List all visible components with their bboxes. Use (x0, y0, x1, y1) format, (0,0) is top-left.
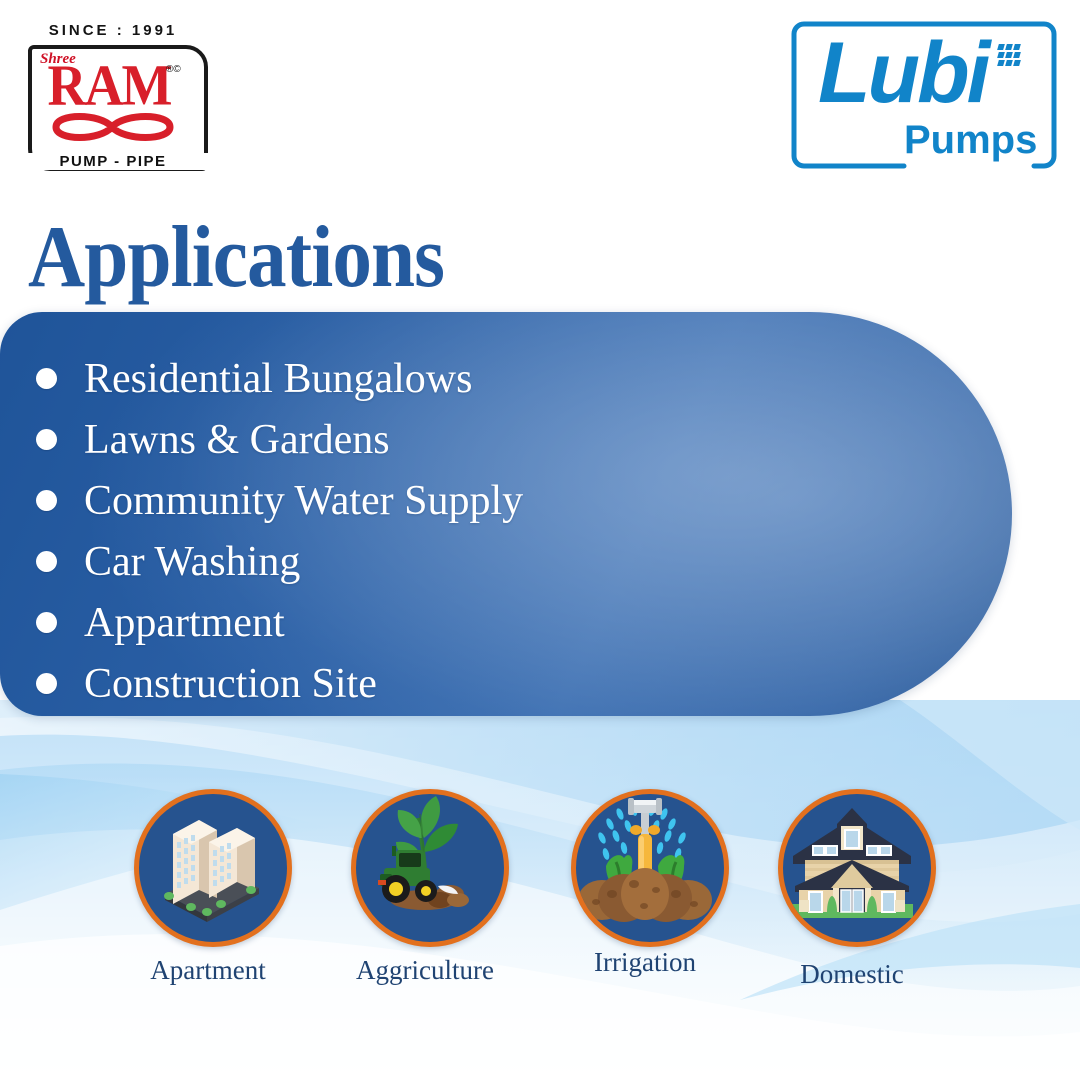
list-item: Car Washing (0, 531, 960, 592)
list-item-label: Community Water Supply (84, 480, 523, 522)
applications-list: Residential Bungalows Lawns & Gardens Co… (0, 348, 960, 714)
bullet-dot-icon (36, 429, 57, 450)
sprinkler-soil-icon (576, 794, 714, 932)
list-item: Construction Site (0, 653, 960, 714)
ram-wordmark: RAM (34, 56, 184, 114)
page-title: Applications (28, 214, 444, 302)
ram-trademark-mark: ®© (166, 64, 181, 75)
icon-label-domestic: Domestic (756, 959, 948, 990)
applications-poster: SINCE : 1991 Shree RAM ®© PUMP - PIPE Lu… (0, 0, 1080, 1080)
list-item-label: Car Washing (84, 541, 300, 583)
lubi-pumps-logo: Lubi Pumps (788, 20, 1060, 170)
lubi-wordmark: Lubi (818, 30, 988, 116)
irrigation-circle (571, 789, 729, 947)
ram-since-text: SINCE : 1991 (18, 22, 208, 39)
list-item: Lawns & Gardens (0, 409, 960, 470)
apartment-circle (134, 789, 292, 947)
bullet-dot-icon (36, 368, 57, 389)
domestic-circle (778, 789, 936, 947)
house-icon (783, 794, 921, 932)
agriculture-circle (351, 789, 509, 947)
shree-ram-logo: SINCE : 1991 Shree RAM ®© PUMP - PIPE (18, 22, 208, 167)
list-item-label: Lawns & Gardens (84, 419, 390, 461)
tractor-plant-icon (356, 794, 494, 932)
icon-label-apartment: Apartment (112, 955, 304, 986)
lubi-grid-dot-icon (998, 44, 1024, 70)
bullet-dot-icon (36, 551, 57, 572)
icon-label-agriculture: Aggriculture (329, 955, 521, 986)
list-item: Community Water Supply (0, 470, 960, 531)
ram-tagline-wrap: PUMP - PIPE (18, 153, 208, 170)
list-item-label: Appartment (84, 602, 285, 644)
list-item-label: Residential Bungalows (84, 358, 472, 400)
list-item-label: Construction Site (84, 663, 377, 705)
apartment-buildings-icon (139, 794, 277, 932)
bullet-dot-icon (36, 612, 57, 633)
bullet-dot-icon (36, 490, 57, 511)
lubi-sub-wordmark: Pumps (904, 120, 1037, 160)
bullet-dot-icon (36, 673, 57, 694)
ram-tagline: PUMP - PIPE (53, 153, 172, 170)
list-item: Appartment (0, 592, 960, 653)
list-item: Residential Bungalows (0, 348, 960, 409)
icon-label-irrigation: Irrigation (549, 947, 741, 978)
ram-swirl-icon (48, 108, 178, 146)
